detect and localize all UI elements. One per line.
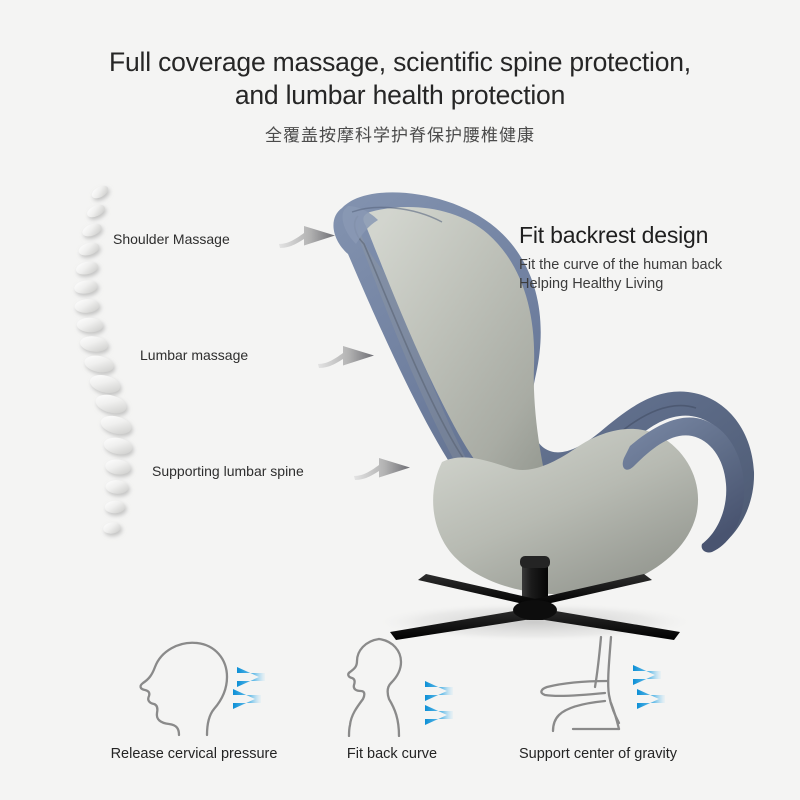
- feature-fit-back-curve: Fit back curve: [277, 628, 507, 762]
- feature-label: Release cervical pressure: [79, 746, 309, 762]
- feature-support-center-of-gravity: Support center of gravity: [483, 628, 713, 762]
- infographic-canvas: Full coverage massage, scientific spine …: [0, 0, 800, 800]
- feature-label: Support center of gravity: [483, 746, 713, 762]
- headline-line-2: and lumbar health protection: [0, 79, 800, 112]
- seated-person-icon: [523, 629, 673, 737]
- callout-title: Fit backrest design: [519, 222, 789, 249]
- back-outline-path: [379, 639, 401, 736]
- seated-thigh-path: [553, 701, 605, 731]
- feature-icon-wrap: [79, 628, 309, 738]
- pressure-arrow-icon: [425, 681, 453, 701]
- seated-hip-path: [611, 703, 619, 729]
- pressure-arrow-icon: [233, 689, 261, 709]
- callout-line-2: Helping Healthy Living: [519, 275, 789, 294]
- feature-release-cervical-pressure: Release cervical pressure: [79, 628, 309, 762]
- callout-subtext: Fit the curve of the human back Helping …: [519, 256, 789, 294]
- label-shoulder-massage: Shoulder Massage: [113, 231, 230, 247]
- pressure-arrow-icon: [637, 689, 665, 709]
- headline: Full coverage massage, scientific spine …: [0, 46, 800, 112]
- pressure-arrow-icon: [237, 667, 265, 687]
- face-outline-path: [348, 639, 379, 736]
- feature-label: Fit back curve: [277, 746, 507, 762]
- seated-arm-path: [541, 681, 607, 696]
- label-supporting-lumbar-spine: Supporting lumbar spine: [152, 463, 304, 479]
- skull-outline-path: [197, 643, 227, 735]
- torso-profile-icon: [317, 629, 467, 737]
- callout-fit-backrest: Fit backrest design Fit the curve of the…: [519, 222, 789, 294]
- feature-row: Release cervical pressure: [0, 628, 800, 800]
- feature-icon-wrap: [483, 628, 713, 738]
- column-collar: [520, 556, 550, 568]
- pressure-arrow-icon: [425, 705, 453, 725]
- head-outline-path: [141, 643, 197, 735]
- header-block: Full coverage massage, scientific spine …: [0, 46, 800, 146]
- label-lumbar-massage: Lumbar massage: [140, 347, 248, 363]
- subheadline-chinese: 全覆盖按摩科学护脊保护腰椎健康: [0, 121, 800, 146]
- head-profile-icon: [119, 629, 269, 737]
- seated-chest-path: [595, 637, 601, 687]
- callout-line-1: Fit the curve of the human back: [519, 256, 789, 275]
- headline-line-1: Full coverage massage, scientific spine …: [0, 46, 800, 79]
- feature-icon-wrap: [277, 628, 507, 738]
- pressure-arrow-icon: [633, 665, 661, 685]
